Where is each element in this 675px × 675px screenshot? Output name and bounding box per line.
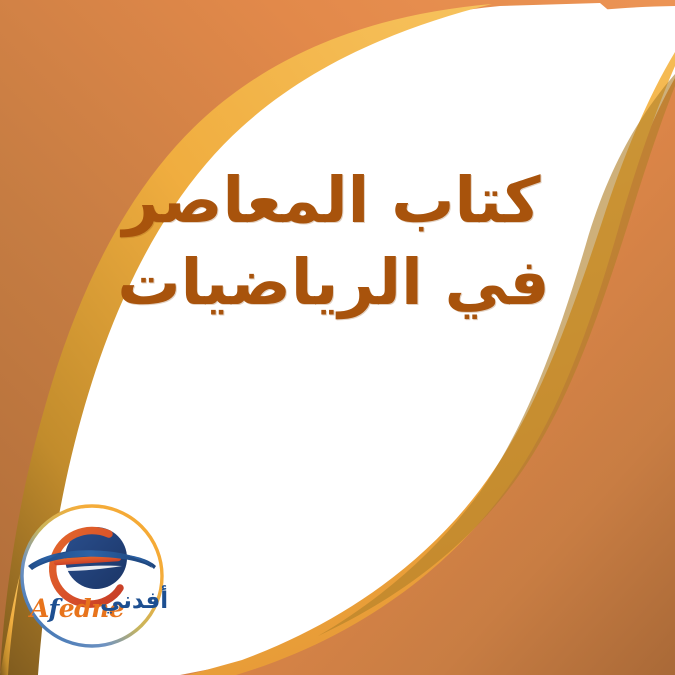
brand-letter-a: A (30, 594, 48, 623)
cover-title: كتاب المعاصر في الرياضيات (0, 168, 675, 316)
brand-logo-svg (14, 496, 174, 662)
brand-wordmark-arabic: أفدني (100, 588, 168, 614)
brand-logo[interactable]: Afedne أفدني (14, 496, 174, 662)
page-title-line-1: كتاب المعاصر (0, 168, 675, 234)
saturn-planet-bar-icon (57, 558, 118, 562)
brand-letter-f: f (48, 594, 58, 623)
page-title-line-2: في الرياضيات (0, 250, 675, 316)
book-cover: كتاب المعاصر في الرياضيات (0, 0, 675, 675)
